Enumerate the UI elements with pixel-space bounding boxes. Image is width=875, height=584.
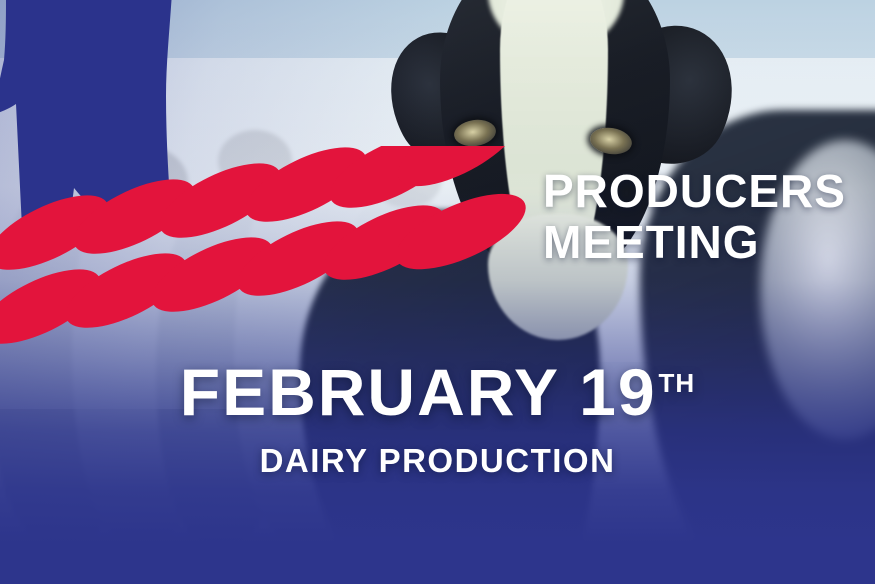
event-date: FEBRUARY 19TH [180,348,695,427]
event-date-ordinal: TH [659,368,696,398]
event-date-main: FEBRUARY 19 [180,355,657,429]
poster-banner: PRODUCERS MEETING FEBRUARY 19TH DAIRY PR… [0,0,875,584]
event-date-row: FEBRUARY 19TH [0,348,875,427]
wheat-leaves [0,146,536,359]
headline-producers: PRODUCERS [543,165,846,217]
headline-meeting: MEETING [543,216,760,268]
event-subtitle-row: DAIRY PRODUCTION [0,442,875,480]
event-subtitle: DAIRY PRODUCTION [260,442,616,480]
